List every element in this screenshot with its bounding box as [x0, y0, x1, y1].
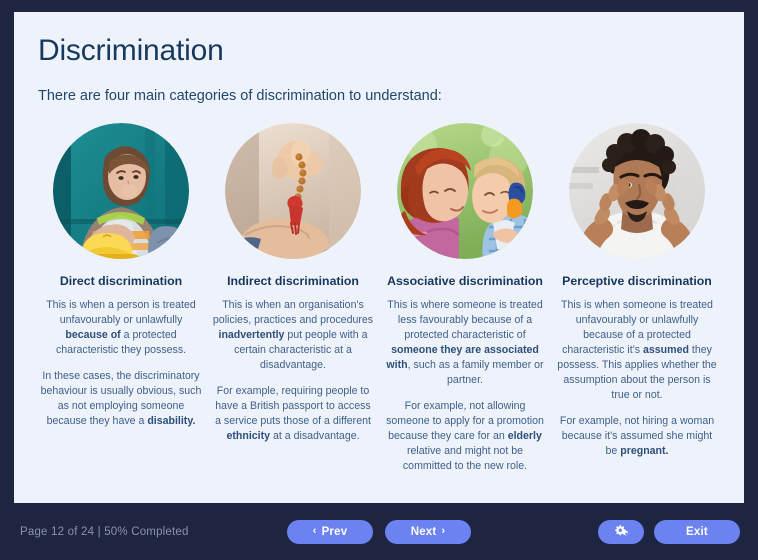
course-player-window: Discrimination There are four main categ…	[0, 0, 758, 560]
category-card-indirect: Indirect discrimination This is when an …	[212, 123, 374, 474]
next-button-label: Next	[411, 526, 437, 538]
emphasis-text: inadvertently	[219, 329, 285, 341]
category-paragraph: This is when someone is treated unfavour…	[556, 298, 718, 403]
category-card-direct: Direct discrimination This is when a per…	[40, 123, 202, 474]
player-footer-bar: Page 12 of 24 | 50% Completed ‹ Prev Nex…	[0, 503, 758, 560]
emphasis-text: ethnicity	[226, 430, 270, 442]
slide-header: Discrimination There are four main categ…	[14, 12, 744, 105]
slide-content-panel: Discrimination There are four main categ…	[14, 12, 744, 503]
emphasis-text: pregnant.	[620, 445, 668, 457]
category-paragraphs: This is when someone is treated unfavour…	[556, 290, 718, 459]
prev-button-label: Prev	[322, 526, 348, 538]
page-title: Discrimination	[38, 34, 720, 69]
category-list: Direct discrimination This is when a per…	[14, 105, 744, 474]
page-subtitle: There are four main categories of discri…	[38, 87, 720, 106]
category-paragraph: This is when a person is treated unfavou…	[40, 298, 202, 358]
category-paragraph: This is when an organisation's policies,…	[212, 298, 374, 373]
progress-status-text: Page 12 of 24 | 50% Completed	[20, 526, 189, 538]
emphasis-text: elderly	[508, 430, 542, 442]
chevron-left-icon: ‹	[313, 526, 317, 537]
cogs-icon	[614, 525, 629, 538]
category-title: Indirect discrimination	[227, 274, 359, 289]
category-paragraph: For example, requiring people to have a …	[212, 384, 374, 444]
man-with-hands-on-head-photo	[569, 123, 705, 259]
category-card-perceptive: Perceptive discrimination This is when s…	[556, 123, 718, 474]
category-card-associative: Associative discrimination This is where…	[384, 123, 546, 474]
emphasis-text: disability.	[147, 415, 195, 427]
category-paragraphs: This is when an organisation's policies,…	[212, 290, 374, 444]
category-title: Perceptive discrimination	[562, 274, 712, 289]
category-paragraph: For example, not hiring a woman because …	[556, 414, 718, 459]
hands-holding-prayer-beads-photo	[225, 123, 361, 259]
mother-and-child-with-hearing-aid-photo	[397, 123, 533, 259]
woman-construction-worker-photo	[53, 123, 189, 259]
settings-button[interactable]	[598, 520, 644, 544]
chevron-right-icon: ›	[441, 526, 445, 537]
category-title: Associative discrimination	[387, 274, 543, 289]
emphasis-text: assumed	[643, 344, 689, 356]
prev-button[interactable]: ‹ Prev	[287, 520, 373, 544]
category-paragraphs: This is where someone is treated less fa…	[384, 290, 546, 474]
category-paragraphs: This is when a person is treated unfavou…	[40, 290, 202, 429]
emphasis-text: because of	[65, 329, 120, 341]
next-button[interactable]: Next ›	[385, 520, 471, 544]
exit-button-label: Exit	[686, 526, 708, 538]
category-paragraph: In these cases, the discriminatory behav…	[40, 369, 202, 429]
category-paragraph: This is where someone is treated less fa…	[384, 298, 546, 388]
category-title: Direct discrimination	[60, 274, 182, 289]
exit-button[interactable]: Exit	[654, 520, 740, 544]
footer-right-buttons: Exit	[598, 520, 740, 544]
category-paragraph: For example, not allowing someone to app…	[384, 399, 546, 474]
